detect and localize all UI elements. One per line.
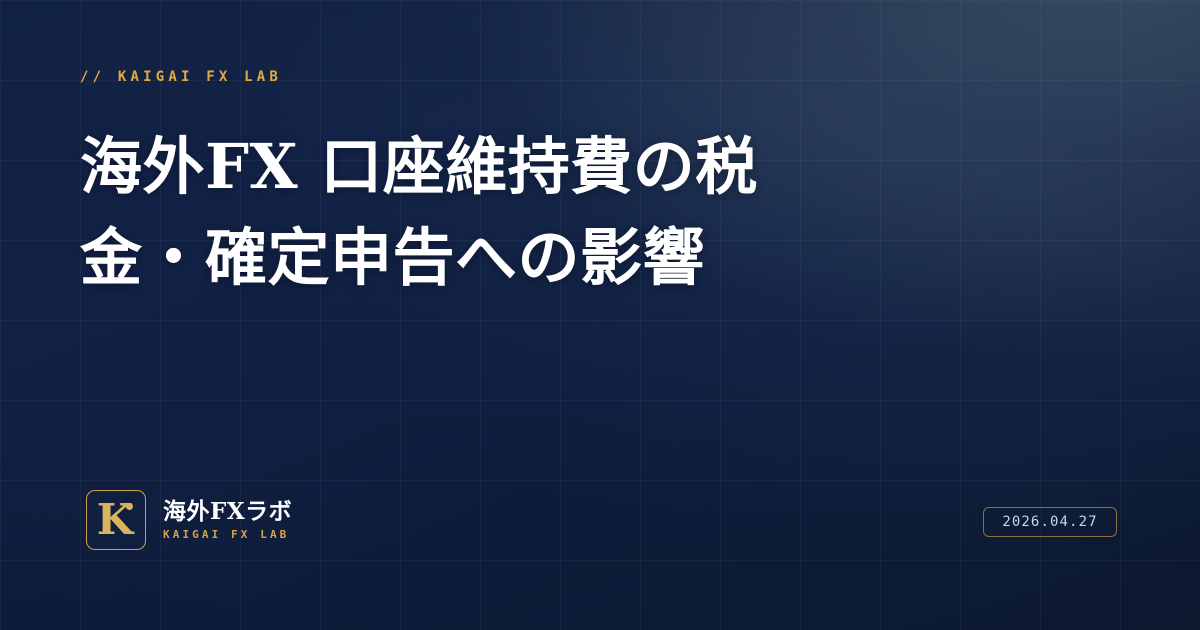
- brand-name-ja: 海外FXラボ: [163, 500, 292, 524]
- logo-dot-icon: [126, 503, 133, 510]
- kicker-label: // KAIGAI FX LAB: [80, 69, 282, 85]
- page-title-line-2: 金・確定申告への影響: [80, 213, 920, 304]
- date-badge: 2026.04.27: [983, 507, 1117, 537]
- page-title: 海外FX 口座維持費の税 金・確定申告への影響: [80, 122, 920, 303]
- page-title-line-1: 海外FX 口座維持費の税: [80, 122, 920, 213]
- brand-name-en: KAIGAI FX LAB: [163, 529, 292, 540]
- logo-mark: K: [86, 490, 146, 550]
- date-badge-text: 2026.04.27: [1002, 514, 1097, 530]
- og-card: // KAIGAI FX LAB 海外FX 口座維持費の税 金・確定申告への影響…: [0, 0, 1200, 630]
- brand-lockup[interactable]: K 海外FXラボ KAIGAI FX LAB: [86, 490, 292, 550]
- brand-text: 海外FXラボ KAIGAI FX LAB: [163, 500, 292, 539]
